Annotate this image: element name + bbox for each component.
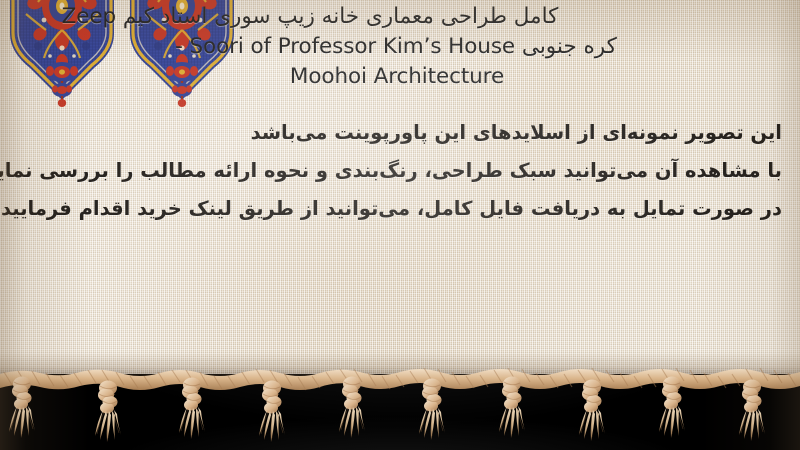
slide-title: کامل طراحی معماری خانه زیپ سوری استاد کی… xyxy=(12,2,788,92)
title-line-3: Moohoi Architecture xyxy=(12,62,788,92)
title-line-2: کره جنوبی Soori of Professor Kim’s House… xyxy=(12,32,788,62)
tassel xyxy=(739,380,765,442)
body-line-1: این تصویر نمونه‌ای از اسلایدهای این پاور… xyxy=(20,114,782,152)
title-line-1: کامل طراحی معماری خانه زیپ سوری استاد کی… xyxy=(12,2,788,32)
slide-body-text: این تصویر نمونه‌ای از اسلایدهای این پاور… xyxy=(20,114,782,228)
body-line-3: در صورت تمایل به دریافت فایل کامل، می‌تو… xyxy=(20,190,782,228)
tassel xyxy=(579,380,605,442)
tassel xyxy=(259,381,285,443)
body-line-2: با مشاهده آن می‌توانید سبک طراحی، رنگ‌بن… xyxy=(20,152,782,190)
slide-canvas: کامل طراحی معماری خانه زیپ سوری استاد کی… xyxy=(0,0,800,450)
rope-tassel-fringe xyxy=(0,352,800,450)
tassel xyxy=(419,379,445,441)
tassel xyxy=(9,377,35,439)
tassel xyxy=(95,381,121,443)
